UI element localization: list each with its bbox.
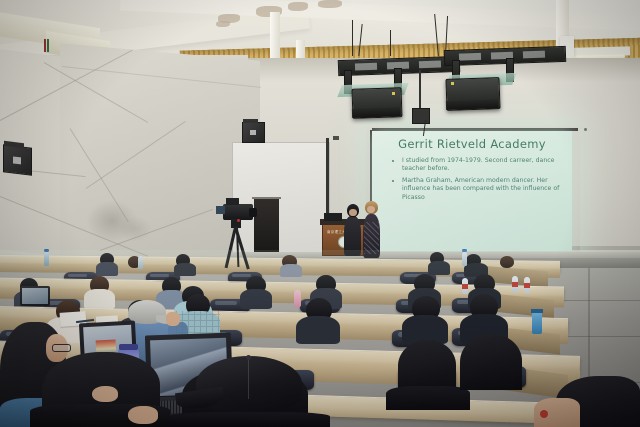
presenter-light-dress-pattern [364, 222, 379, 254]
video-camera-lcd [216, 206, 225, 214]
wall-mark [584, 128, 587, 131]
student-body [280, 264, 302, 277]
panel-accent-stripe [44, 39, 46, 52]
panel-accent-stripe [47, 39, 49, 52]
wall-speaker-front [242, 122, 265, 143]
video-camera-viewfinder [226, 198, 239, 205]
slide-bullet-list: I studied from 1974-1979. Second carreer… [380, 157, 564, 202]
water-bottle [462, 252, 467, 266]
projector-indicator-right [451, 82, 454, 85]
student-body [240, 289, 272, 309]
student-rowD-head [398, 340, 456, 392]
presenter-dark-body [344, 216, 361, 256]
projector-lens-right [446, 99, 498, 110]
slide-bullet: Martha Graham, American modern dancer. H… [402, 177, 564, 202]
black-cap-button [246, 355, 251, 360]
student-blackcap-shoulder [170, 412, 330, 427]
student-rowD2-head [460, 334, 522, 390]
doorway [254, 199, 279, 253]
ceiling-patch [318, 0, 342, 8]
video-camera-tally-light [237, 219, 240, 222]
projector-indicator-left [392, 92, 395, 95]
student-body [296, 316, 340, 344]
wall-speaker-bracket [243, 119, 258, 123]
student-body [84, 289, 115, 309]
rig-wire [390, 30, 391, 56]
student-body [96, 262, 118, 276]
bracelet [540, 410, 548, 418]
student-hand [128, 406, 158, 424]
whiteboard-top-clip [333, 136, 339, 140]
slide-bullet: I studied from 1974-1979. Second carreer… [402, 157, 564, 174]
black-cap-seam [248, 357, 249, 399]
center-unit-wire [419, 70, 421, 108]
presenter-light-face [367, 206, 375, 213]
podium-monitor [324, 213, 342, 221]
ceiling-hanging-unit [412, 108, 430, 124]
water-bottle [44, 252, 49, 266]
student-head [500, 256, 514, 268]
projector-lens-left [352, 107, 400, 118]
student-body [174, 263, 196, 276]
ceiling-patch [216, 21, 230, 27]
tumbler-cap [531, 309, 543, 313]
bottle-label [512, 282, 518, 287]
juice-bottle-cap [119, 344, 138, 350]
slide-title: Gerrit Rietveld Academy [380, 137, 564, 151]
student-body [428, 261, 450, 275]
lecture-hall-photo: Gerrit Rietveld Academy I studied from 1… [0, 0, 640, 427]
pink-bottle [294, 290, 301, 307]
door-frame [252, 197, 281, 199]
bottle-label [462, 284, 468, 289]
rig-wire [352, 20, 353, 56]
student-rowD-shoulder [386, 386, 470, 410]
wall-speaker-left [3, 144, 32, 176]
bottle-label [524, 283, 530, 288]
presenter-dark-face [349, 209, 357, 216]
blue-tumbler [532, 312, 542, 334]
presentation-slide: Gerrit Rietveld Academy I studied from 1… [372, 131, 572, 251]
student-hand [92, 386, 118, 402]
laptop-screen [22, 288, 48, 304]
bottle-cap [44, 249, 49, 252]
water-bottle [138, 256, 143, 269]
projection-screen: Gerrit Rietveld Academy I studied from 1… [372, 131, 572, 251]
student-hand [166, 312, 180, 326]
bottle-cap [462, 249, 467, 252]
video-camera-lens [249, 208, 257, 217]
eyeglasses [52, 344, 71, 352]
whiteboard [232, 142, 330, 256]
ceiling-patch [288, 2, 308, 11]
wall-stain [118, 216, 152, 242]
